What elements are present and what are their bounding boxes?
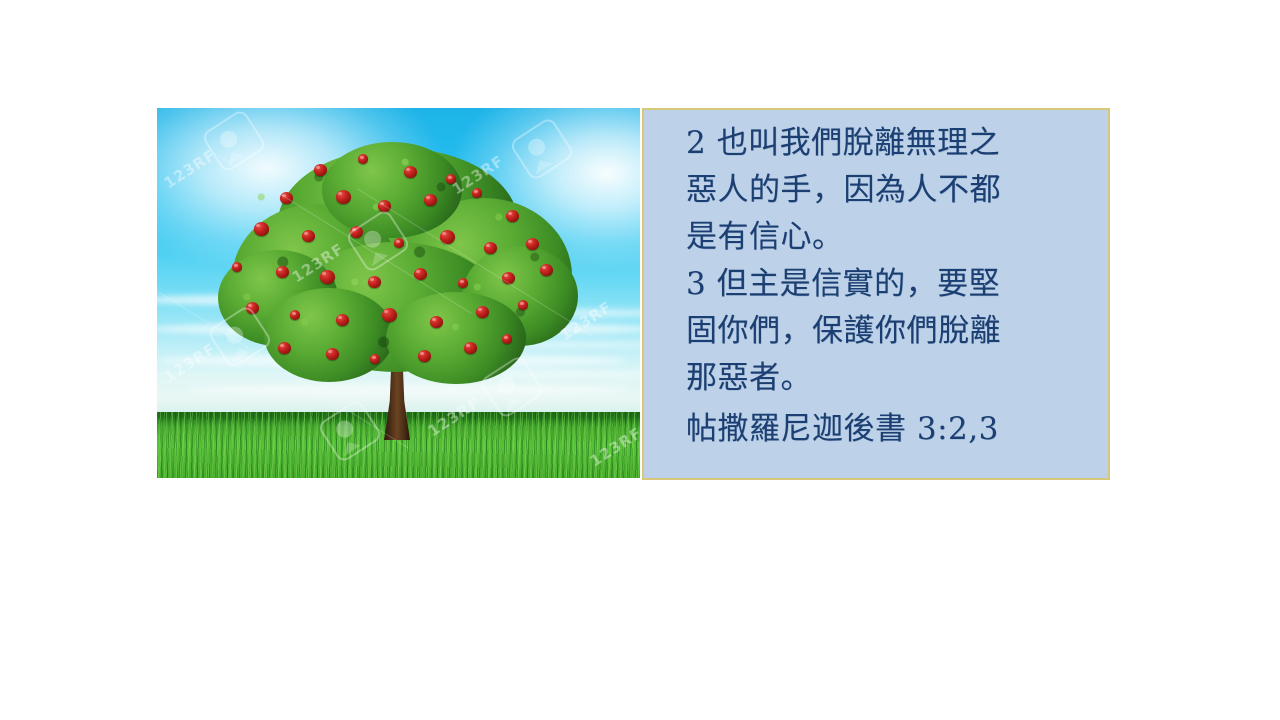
apple-fruit <box>440 230 455 244</box>
apple-tree-photo: 123RF 123RF 123RF 123RF 123RF 123RF 123R… <box>157 108 640 478</box>
apple-fruit <box>276 266 289 278</box>
tree-canopy <box>218 142 578 392</box>
apple-fruit <box>430 316 443 328</box>
apple-fruit <box>424 194 437 206</box>
verse-block: 2 也叫我們脫離無理之 惡人的手，因為人不都 是有信心。 3 但主是信實的，要堅… <box>644 110 1108 453</box>
verse-line: 惡人的手，因為人不都 <box>686 167 1094 214</box>
apple-fruit <box>446 174 456 184</box>
apple-fruit <box>320 270 335 284</box>
apple-fruit <box>414 268 427 280</box>
apple-fruit <box>368 276 381 288</box>
apple-fruit <box>280 192 293 204</box>
scripture-reference: 帖撒羅尼迦後書 3:2,3 <box>686 406 1094 453</box>
verse-line: 3 但主是信實的，要堅 <box>686 261 1094 308</box>
apple-fruit <box>314 164 327 176</box>
apple-fruit <box>370 354 380 364</box>
apple-fruit <box>378 200 391 212</box>
apple-fruit <box>404 166 417 178</box>
apple-fruit <box>336 190 351 204</box>
apple-fruit <box>278 342 291 354</box>
scripture-text-panel: 2 也叫我們脫離無理之 惡人的手，因為人不都 是有信心。 3 但主是信實的，要堅… <box>642 108 1110 480</box>
apple-fruit <box>382 308 397 322</box>
apple-fruit <box>302 230 315 242</box>
apple-fruit <box>418 350 431 362</box>
apple-fruit <box>394 238 404 248</box>
apple-fruit <box>518 300 528 310</box>
apple-fruit <box>358 154 368 164</box>
apple-fruit <box>502 334 512 344</box>
apple-fruit <box>246 302 259 314</box>
apple-fruit <box>502 272 515 284</box>
verse-line: 固你們，保護你們脫離 <box>686 308 1094 355</box>
verse-line: 2 也叫我們脫離無理之 <box>686 120 1094 167</box>
apple-tree <box>218 142 578 432</box>
apple-fruit <box>526 238 539 250</box>
apple-fruit <box>484 242 497 254</box>
apple-fruit <box>350 226 363 238</box>
foliage-leaf-texture <box>218 142 578 392</box>
apple-fruit <box>290 310 300 320</box>
apple-fruit <box>326 348 339 360</box>
apple-fruit <box>464 342 477 354</box>
verse-line: 那惡者。 <box>686 355 1094 402</box>
apple-fruit <box>540 264 553 276</box>
apple-fruit <box>458 278 468 288</box>
apple-fruit <box>254 222 269 236</box>
apple-fruit <box>476 306 489 318</box>
apple-fruit <box>472 188 482 198</box>
apple-fruit <box>232 262 242 272</box>
apple-fruit <box>336 314 349 326</box>
apple-fruit <box>506 210 519 222</box>
verse-line: 是有信心。 <box>686 214 1094 261</box>
slide-canvas: 123RF 123RF 123RF 123RF 123RF 123RF 123R… <box>0 0 1280 720</box>
